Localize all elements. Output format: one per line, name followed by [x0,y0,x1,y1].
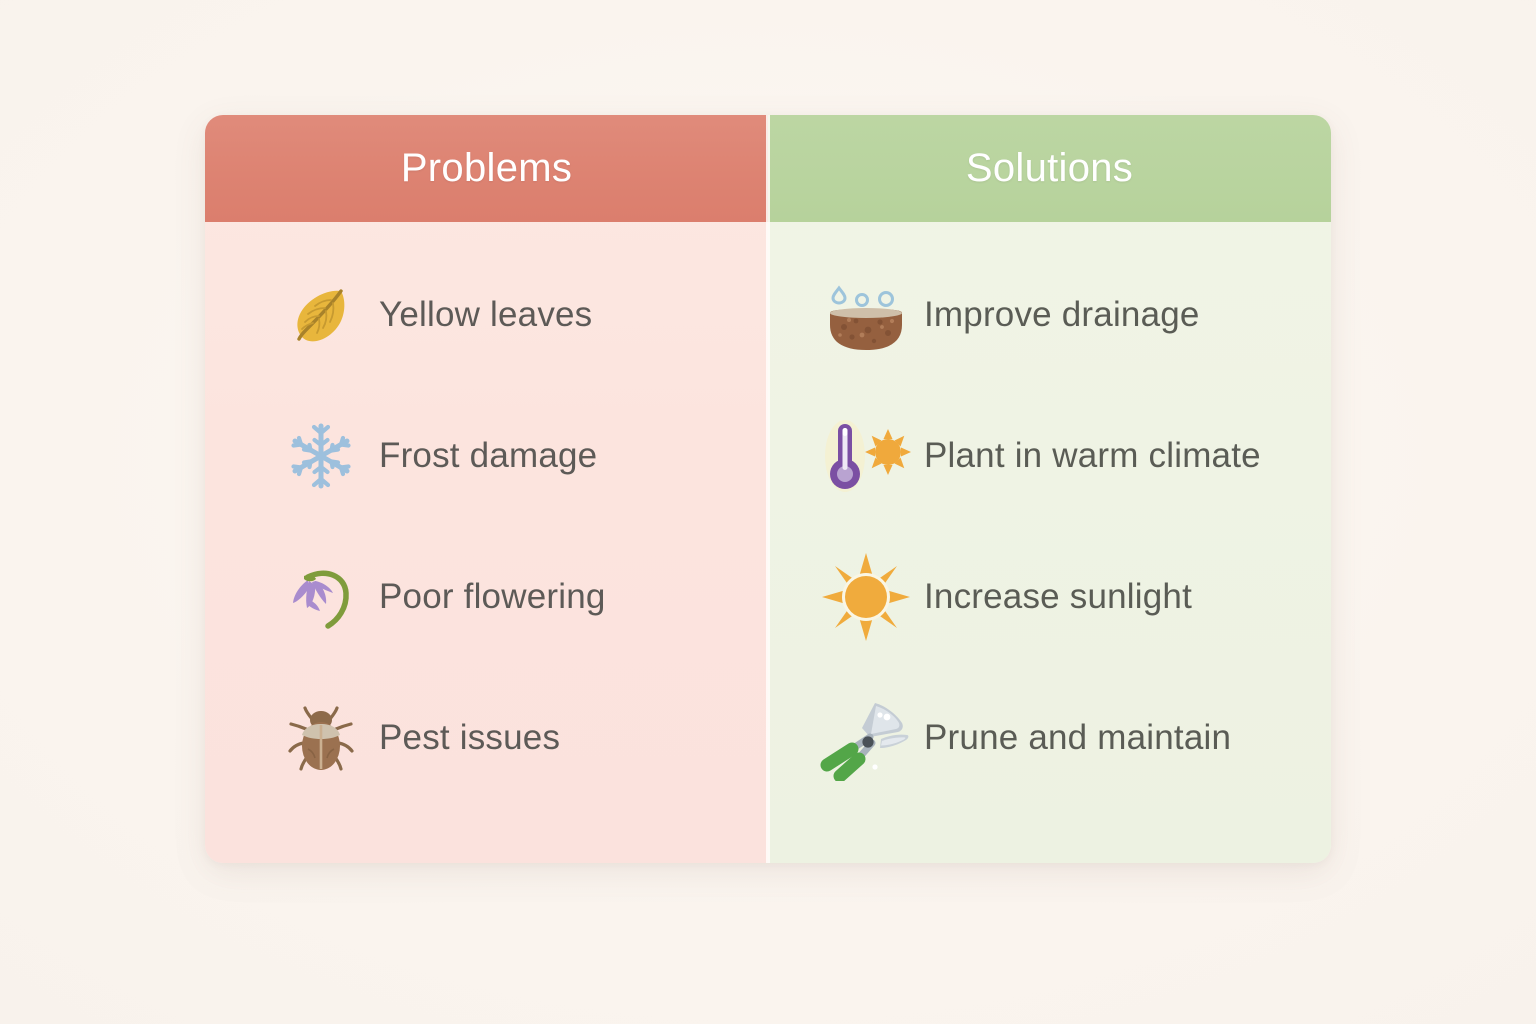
snowflake-icon [263,419,379,493]
problems-row-list: Yellow leaves [205,222,768,863]
table-row[interactable]: Increase sunlight [808,526,1331,667]
table-row[interactable]: Pest issues [263,667,768,808]
row-label: Prune and maintain [924,718,1231,758]
column-divider [766,115,770,863]
beetle-icon [263,701,379,775]
row-label: Plant in warm climate [924,436,1261,476]
soil-drainage-icon [808,275,924,355]
row-label: Poor flowering [379,577,606,617]
table-row[interactable]: Improve drainage [808,244,1331,385]
problems-column: Problems [205,115,768,863]
yellow-leaf-icon [263,278,379,352]
wilted-flower-icon [263,558,379,636]
problems-column-header: Problems [205,115,768,222]
row-label: Frost damage [379,436,597,476]
solutions-column-header: Solutions [768,115,1331,222]
row-label: Improve drainage [924,295,1200,335]
table-row[interactable]: Plant in warm climate [808,385,1331,526]
sun-icon [808,551,924,643]
thermometer-sun-icon [808,412,924,500]
table-row[interactable]: Prune and maintain [808,667,1331,808]
table-row[interactable]: Poor flowering [263,526,768,667]
solutions-row-list: Improve drainage [768,222,1331,863]
row-label: Pest issues [379,718,560,758]
row-label: Increase sunlight [924,577,1192,617]
table-row[interactable]: Yellow leaves [263,244,768,385]
row-label: Yellow leaves [379,295,592,335]
table-row[interactable]: Frost damage [263,385,768,526]
comparison-card: Problems [205,115,1331,863]
solutions-column: Solutions [768,115,1331,863]
pruning-shears-icon [808,695,924,781]
